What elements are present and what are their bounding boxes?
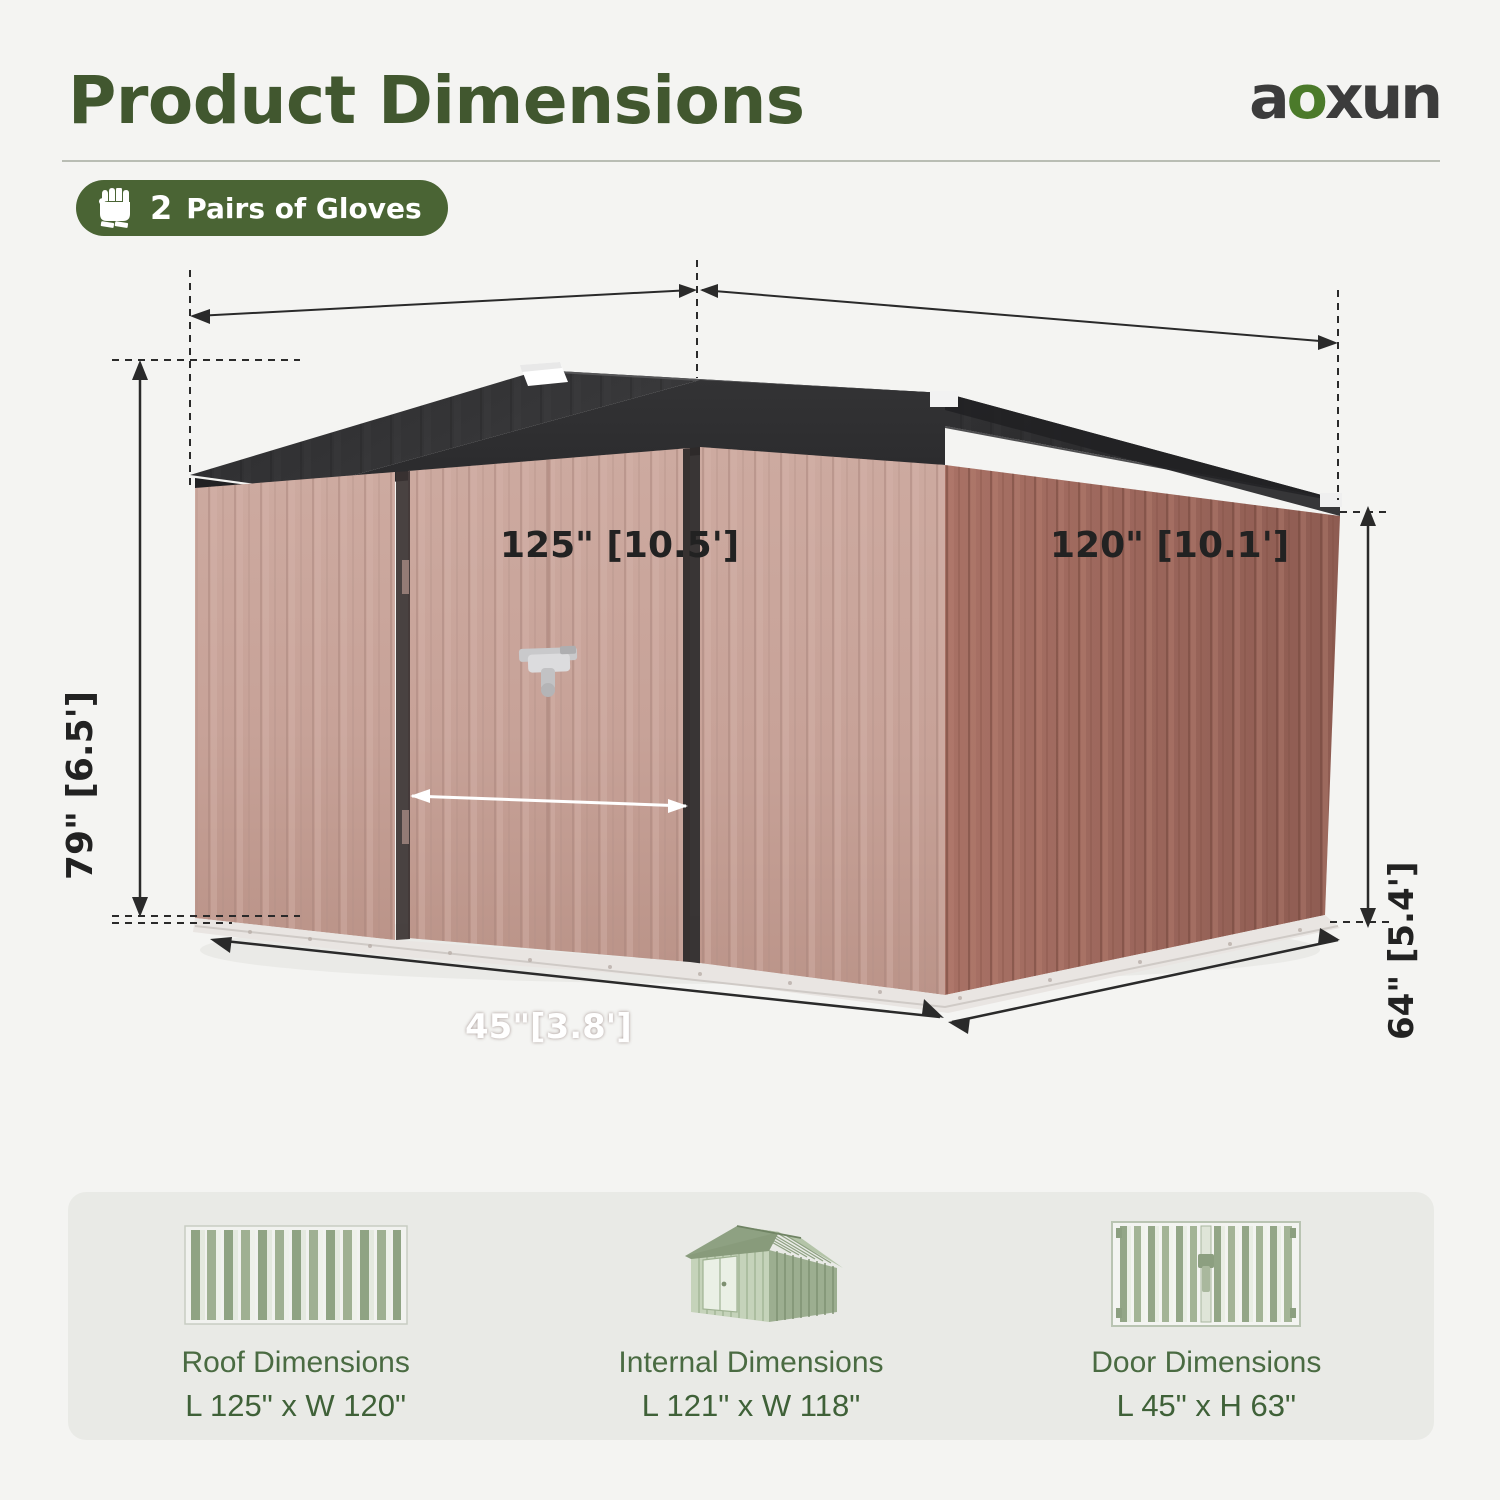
double-door-icon xyxy=(1106,1218,1306,1330)
shed-3d-icon xyxy=(651,1218,851,1330)
roof-panel-icon xyxy=(181,1218,411,1330)
gloves-label: Pairs of Gloves xyxy=(186,192,421,225)
product-dimensions-infographic: Product Dimensions aoxun 2 Pairs of Glov xyxy=(0,0,1500,1500)
gloves-icon xyxy=(94,188,138,228)
dim-label-roof-width: 120" [10.1'] xyxy=(1050,525,1289,566)
spec-value-roof: L 125" x W 120" xyxy=(185,1388,406,1424)
specs-card: Roof Dimensions L 125" x W 120" xyxy=(68,1192,1434,1440)
roof-bracket xyxy=(930,391,958,407)
dim-label-peak-height: 79" [6.5'] xyxy=(60,691,101,880)
spec-item-roof: Roof Dimensions L 125" x W 120" xyxy=(68,1192,523,1440)
spec-item-door: Door Dimensions L 45" x H 63" xyxy=(979,1192,1434,1440)
spec-title-internal: Internal Dimensions xyxy=(618,1346,883,1380)
spec-title-roof: Roof Dimensions xyxy=(181,1346,409,1380)
spec-value-door: L 45" x H 63" xyxy=(1117,1388,1296,1424)
brand-logo-post: xun xyxy=(1325,63,1440,133)
page-title: Product Dimensions xyxy=(68,62,805,139)
brand-logo-accent: o xyxy=(1287,63,1325,133)
spec-value-internal: L 121" x W 118" xyxy=(642,1388,860,1424)
brand-logo-pre: a xyxy=(1249,63,1287,133)
title-divider xyxy=(62,160,1440,162)
shed-dimension-diagram: 125" [10.5'] 120" [10.1'] 79" [6.5'] 64"… xyxy=(0,250,1500,1050)
dim-label-door-width: 45"[3.8'] xyxy=(465,1007,632,1047)
gloves-badge: 2 Pairs of Gloves xyxy=(76,180,448,236)
dim-label-wall-height: 64" [5.4'] xyxy=(1382,861,1422,1040)
dim-label-roof-length: 125" [10.5'] xyxy=(500,525,739,566)
brand-logo: aoxun xyxy=(1249,68,1440,128)
gloves-count: 2 xyxy=(150,189,172,227)
spec-title-door: Door Dimensions xyxy=(1091,1346,1321,1380)
shed-illustration xyxy=(0,250,1500,1050)
spec-item-internal: Internal Dimensions L 121" x W 118" xyxy=(523,1192,978,1440)
